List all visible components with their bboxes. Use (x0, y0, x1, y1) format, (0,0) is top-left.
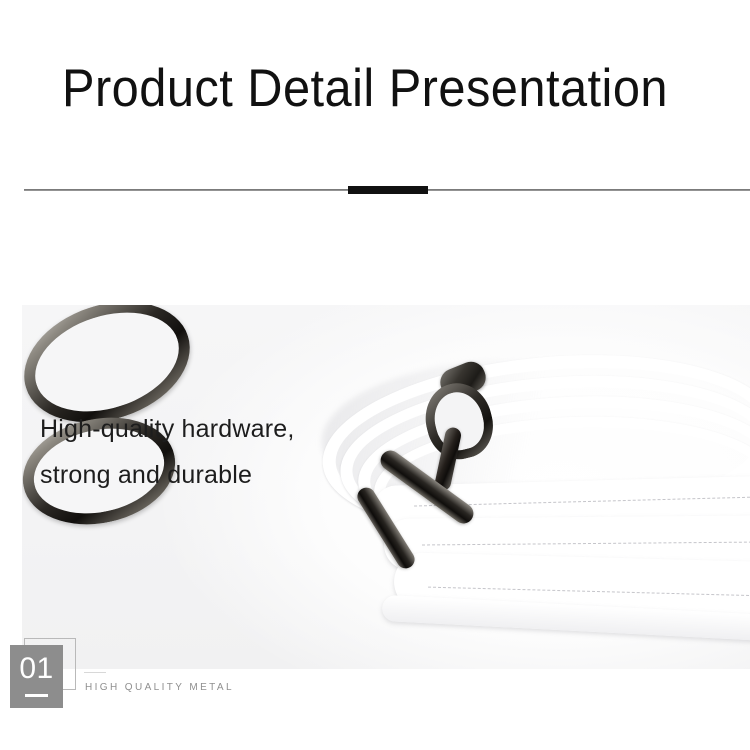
divider-accent-block (348, 186, 428, 194)
section-divider (24, 186, 750, 194)
caption-line-2: strong and durable (40, 452, 370, 498)
badge-tick-line (84, 672, 106, 673)
badge-underline (25, 694, 48, 697)
badge-number: 01 (10, 652, 63, 686)
photo-caption: High-quality hardware, strong and durabl… (40, 406, 370, 498)
page-title: Product Detail Presentation (62, 58, 660, 120)
caption-line-1: High-quality hardware, (40, 406, 370, 452)
badge-caption: HIGH QUALITY METAL (85, 682, 234, 693)
product-detail-page: Product Detail Presentation (0, 0, 750, 750)
